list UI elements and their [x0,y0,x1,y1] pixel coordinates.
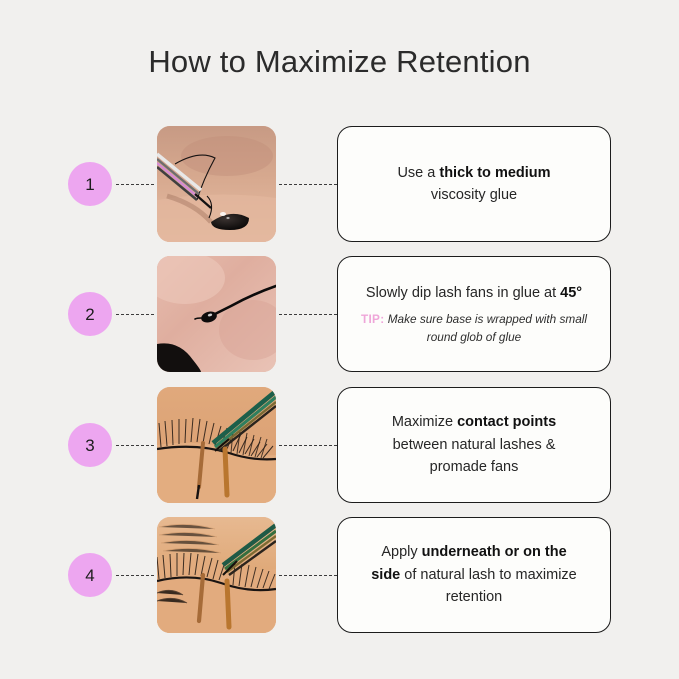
connector-dashed-left-1 [116,184,154,185]
tweezers-lash-fan-glue-drop-photo [157,126,276,242]
step-text-2: Slowly dip lash fans in glue at 45° [366,282,582,304]
lash-application-contact-points-photo [157,387,276,503]
step-tip-2: TIP: Make sure base is wrapped with smal… [354,311,594,346]
step-row-3: 3 [0,381,679,511]
step-text-emphasis-4a: underneath or on the [422,544,567,560]
step-number-badge-2: 2 [68,292,112,336]
step-text-emphasis-3: contact points [457,414,556,430]
step-text-emphasis-1: thick to medium [439,165,550,181]
lash-application-underneath-side-photo [157,517,276,633]
tip-label: TIP: [361,312,384,326]
step-number-badge-1: 1 [68,162,112,206]
step-text-3: Maximize contact pointsbetween natural l… [392,411,556,478]
step-text-4: Apply underneath or on theside of natura… [371,541,577,608]
single-lash-glue-bead-closeup-photo [157,256,276,372]
connector-dashed-right-1 [279,184,337,185]
page-title: How to Maximize Retention [0,44,679,80]
connector-dashed-right-4 [279,575,337,576]
step-text-emphasis-4b: side [371,567,400,583]
step-image-4 [157,517,276,633]
step-card-4: Apply underneath or on theside of natura… [337,517,611,633]
connector-dashed-left-4 [116,575,154,576]
step-image-2 [157,256,276,372]
step-image-3 [157,387,276,503]
step-number-badge-4: 4 [68,553,112,597]
step-card-2: Slowly dip lash fans in glue at 45° TIP:… [337,256,611,372]
step-card-3: Maximize contact pointsbetween natural l… [337,387,611,503]
step-text-1: Use a thick to mediumviscosity glue [397,162,550,207]
connector-dashed-right-3 [279,445,337,446]
step-row-4: 4 [0,511,679,641]
connector-dashed-left-2 [116,314,154,315]
infographic-page: How to Maximize Retention 1 [0,0,679,679]
connector-dashed-left-3 [116,445,154,446]
step-row-2: 2 [0,250,679,380]
step-row-1: 1 [0,120,679,250]
connector-dashed-right-2 [279,314,337,315]
step-image-1 [157,126,276,242]
step-text-emphasis-2: 45° [560,285,582,301]
step-card-1: Use a thick to mediumviscosity glue [337,126,611,242]
tip-text: Make sure base is wrapped with small rou… [388,312,587,344]
step-number-badge-3: 3 [68,423,112,467]
